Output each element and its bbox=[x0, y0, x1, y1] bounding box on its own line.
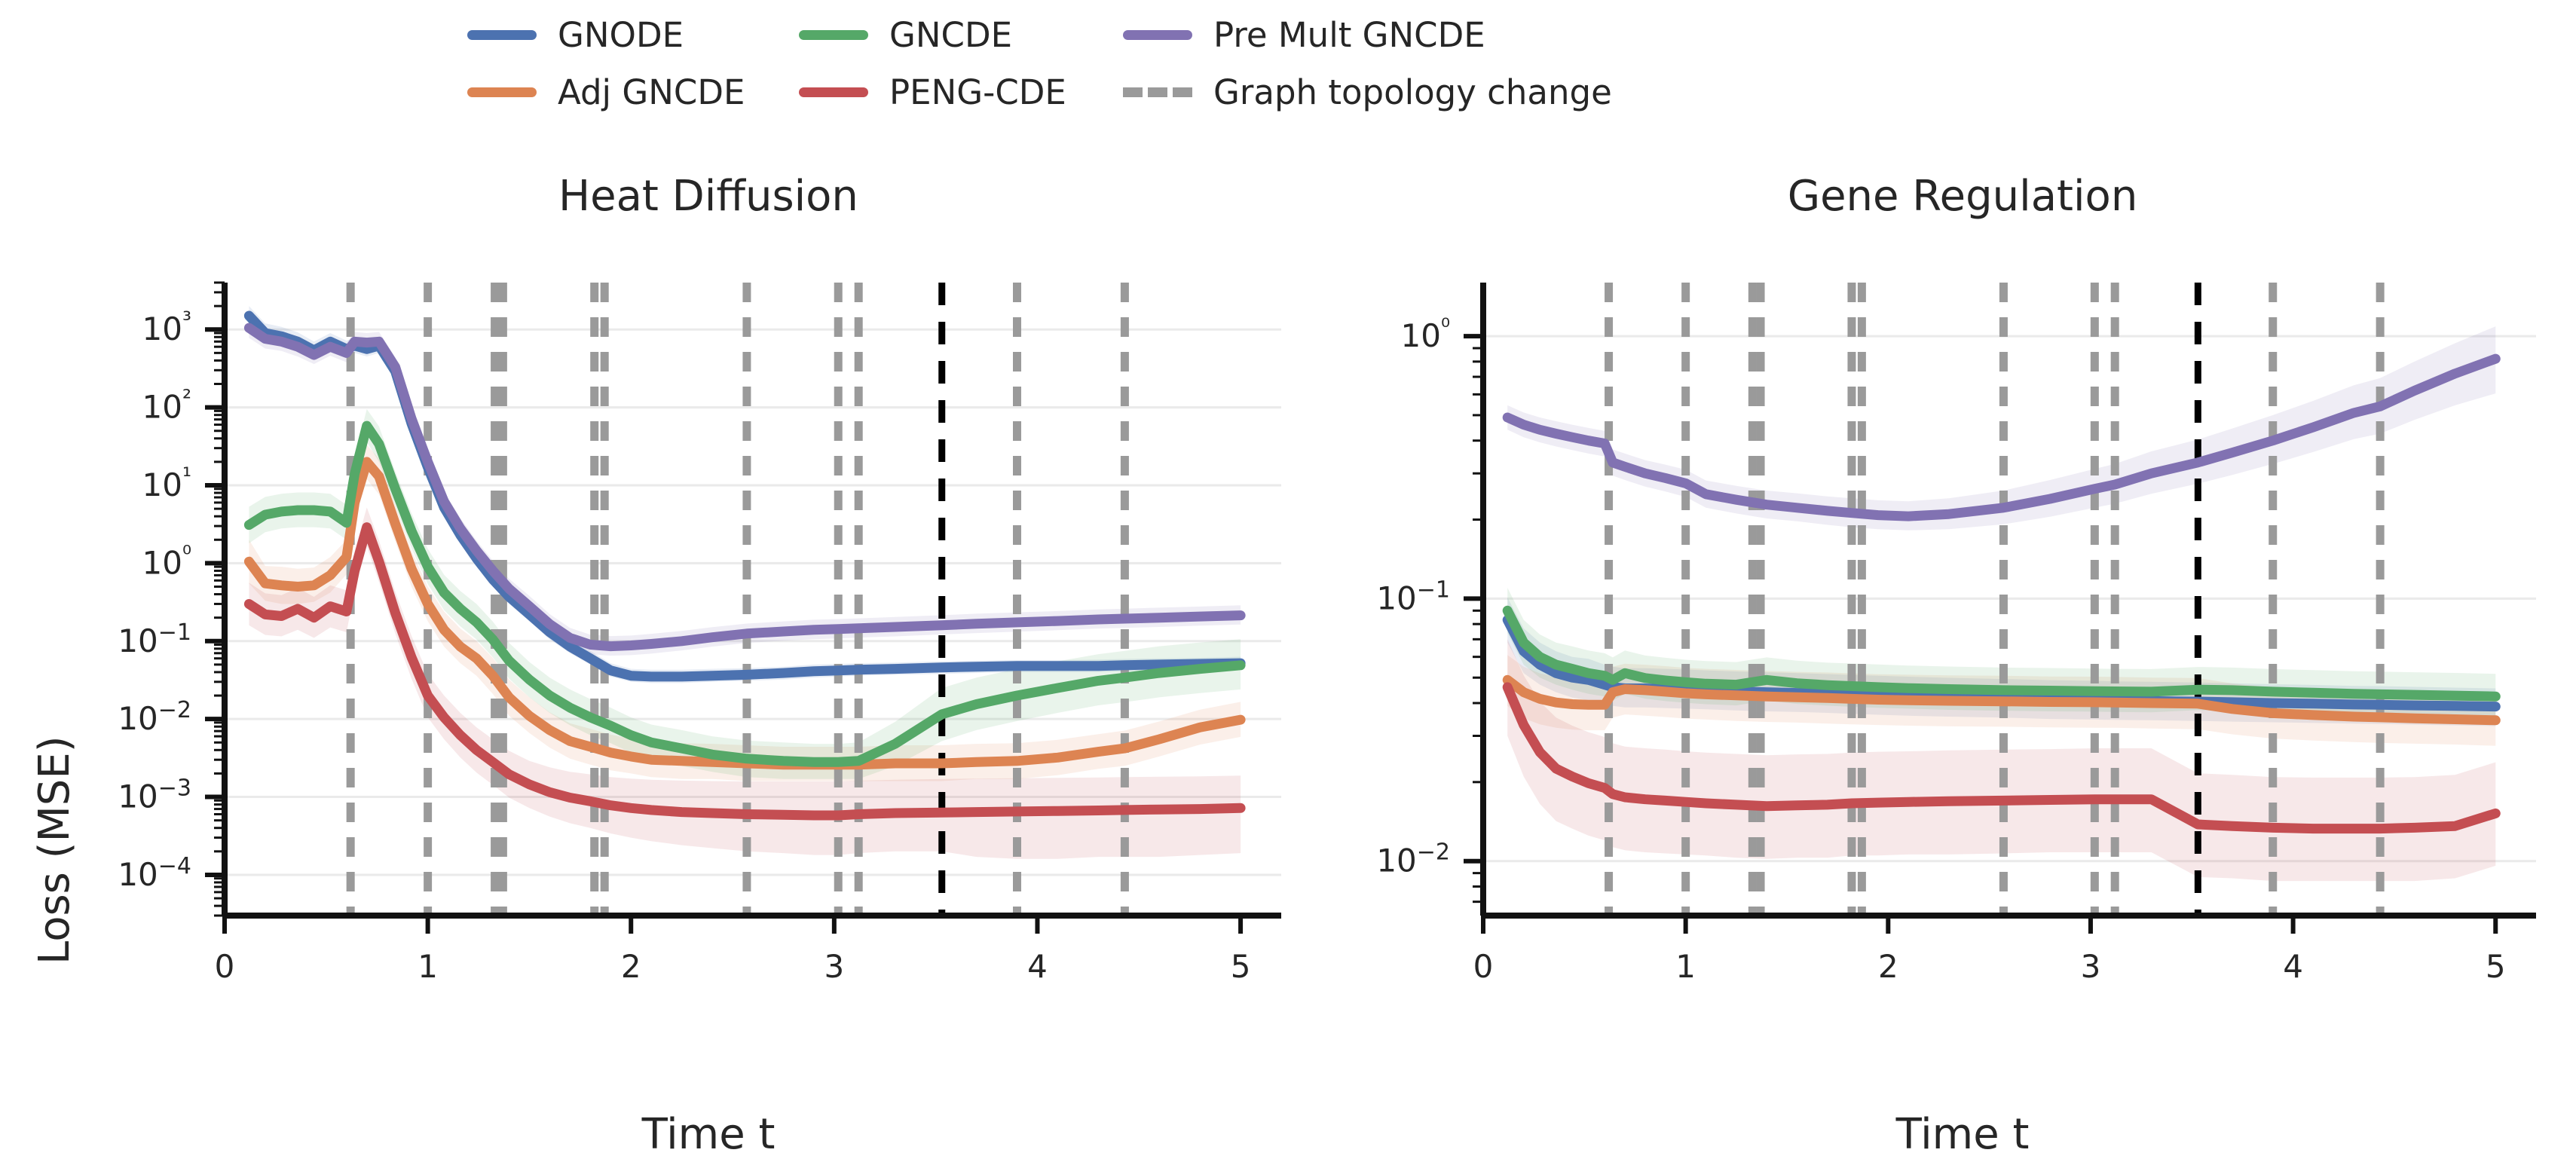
x-axis-title-text: Time t bbox=[642, 1110, 776, 1159]
x-tick-label: 5 bbox=[1231, 948, 1251, 985]
legend-label: Graph topology change bbox=[1213, 75, 1612, 109]
figure-root: GNODE GNCDE Pre Mult GNCDE Adj GNCDE PEN… bbox=[0, 0, 2576, 1165]
x-tick-label: 0 bbox=[1473, 948, 1494, 985]
panel-title: Heat Diffusion bbox=[0, 172, 1326, 221]
legend-entry-gnode: GNODE bbox=[467, 6, 799, 63]
y-tick-label: 10−2 bbox=[118, 697, 191, 737]
x-tick-label: 1 bbox=[418, 948, 438, 985]
x-tick-label: 2 bbox=[1878, 948, 1898, 985]
panel-title: Gene Regulation bbox=[1281, 172, 2576, 221]
legend-label: GNCDE bbox=[889, 18, 1012, 52]
y-tick-label: 10⁰ bbox=[142, 541, 191, 581]
x-tick-label: 0 bbox=[215, 948, 235, 985]
line-swatch-icon bbox=[467, 87, 537, 97]
x-tick-label: 1 bbox=[1675, 948, 1696, 985]
x-tick-label: 4 bbox=[2283, 948, 2303, 985]
y-axis-title: Loss (MSE) bbox=[2571, 735, 2576, 965]
legend-entry-peng-cde: PENG-CDE bbox=[799, 63, 1123, 121]
line-swatch-icon bbox=[799, 30, 868, 40]
legend-grid: GNODE GNCDE Pre Mult GNCDE Adj GNCDE PEN… bbox=[467, 6, 1545, 121]
line-swatch-icon bbox=[1123, 30, 1192, 40]
line-swatch-icon bbox=[799, 87, 868, 97]
panel-heat-diffusion: Heat Diffusion Loss (MSE) Time t 10−410−… bbox=[0, 143, 1326, 1165]
x-axis-title: Time t bbox=[0, 1110, 1326, 1159]
y-tick-label: 10−3 bbox=[118, 775, 191, 815]
legend-label: Adj GNCDE bbox=[558, 75, 745, 109]
chart-canvas-gene-regulation: 10−210−110⁰012345 bbox=[1281, 143, 2576, 1165]
line-swatch-icon bbox=[467, 30, 537, 40]
y-tick-label: 10−1 bbox=[1376, 576, 1450, 616]
x-tick-label: 2 bbox=[621, 948, 641, 985]
x-axis-title: Time t bbox=[1281, 1110, 2576, 1159]
x-tick-label: 3 bbox=[824, 948, 844, 985]
y-tick-label: 10−1 bbox=[118, 619, 191, 659]
x-tick-label: 4 bbox=[1027, 948, 1048, 985]
y-tick-label: 10−2 bbox=[1376, 839, 1450, 879]
legend-entry-adj-gncde: Adj GNCDE bbox=[467, 63, 799, 121]
legend-entry-topology-change: Graph topology change bbox=[1123, 63, 1545, 121]
y-tick-label: 10−4 bbox=[118, 853, 191, 893]
y-tick-label: 10⁰ bbox=[1401, 314, 1450, 354]
figure-legend: GNODE GNCDE Pre Mult GNCDE Adj GNCDE PEN… bbox=[0, 0, 2576, 143]
y-tick-label: 10² bbox=[142, 386, 191, 426]
y-axis-title: Loss (MSE) bbox=[30, 735, 79, 965]
legend-label: PENG-CDE bbox=[889, 75, 1066, 109]
legend-entry-gncde: GNCDE bbox=[799, 6, 1123, 63]
panel-gene-regulation: Gene Regulation Loss (MSE) Time t 10−210… bbox=[1281, 143, 2576, 1165]
y-tick-label: 10¹ bbox=[142, 463, 191, 503]
legend-entry-pre-mult-gncde: Pre Mult GNCDE bbox=[1123, 6, 1545, 63]
chart-canvas-heat-diffusion: 10−410−310−210−110⁰10¹10²10³012345 bbox=[0, 143, 1326, 1165]
dashed-line-swatch-icon bbox=[1123, 87, 1192, 97]
y-tick-label: 10³ bbox=[142, 307, 191, 347]
legend-label: Pre Mult GNCDE bbox=[1213, 18, 1485, 52]
x-tick-label: 3 bbox=[2081, 948, 2101, 985]
x-axis-title-text: Time t bbox=[1896, 1110, 2030, 1159]
x-tick-label: 5 bbox=[2486, 948, 2506, 985]
legend-label: GNODE bbox=[558, 18, 684, 52]
